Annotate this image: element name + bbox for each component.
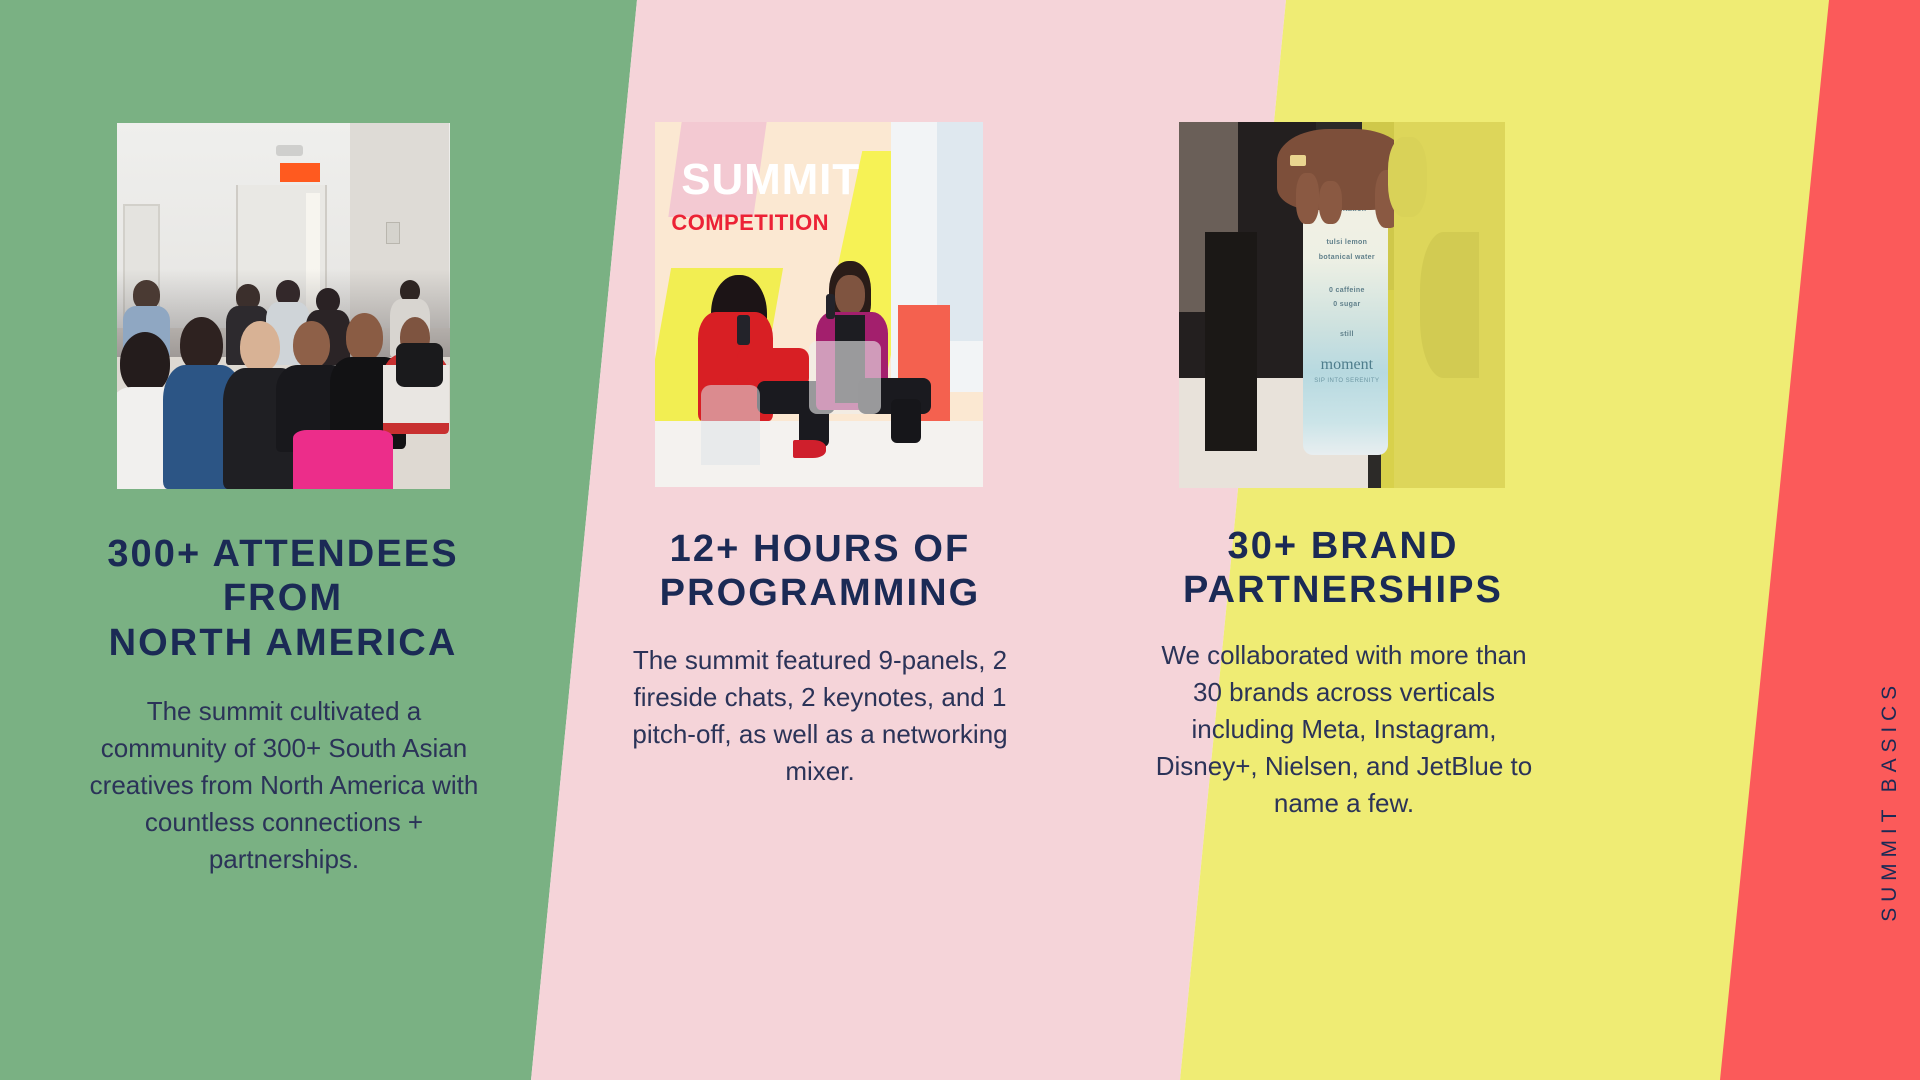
can-line-7: still xyxy=(1313,331,1381,338)
can-line-3: tulsi lemon xyxy=(1313,239,1381,246)
panel-attendees: 300+ ATTENDEES FROM NORTH AMERICA The su… xyxy=(0,0,560,1080)
fireside-chat-photo: SUMMIT COMPETITION xyxy=(655,122,983,487)
section-label-summit-basics: SUMMIT BASICS xyxy=(1878,680,1902,922)
can-brand-name: moment xyxy=(1309,356,1384,374)
slide-root: 300+ ATTENDEES FROM NORTH AMERICA The su… xyxy=(0,0,1920,1080)
panel-body-text: We collaborated with more than 30 brands… xyxy=(1144,637,1544,822)
can-line-5: 0 caffeine xyxy=(1313,287,1381,294)
can-brand-tagline: SIP INTO SERENITY xyxy=(1309,378,1384,384)
beverage-can-photo: drink your meditation tulsi lemon botani… xyxy=(1179,122,1505,488)
panel-programming: SUMMIT COMPETITION 12+ HOURS OF PROGRAMM… xyxy=(560,0,1070,1080)
exit-sign-icon xyxy=(280,163,320,181)
beverage-can xyxy=(1303,181,1388,456)
backdrop-competition-text: COMPETITION xyxy=(671,210,966,236)
panel-headline: 12+ HOURS OF PROGRAMMING xyxy=(610,527,1030,616)
can-line-6: 0 sugar xyxy=(1313,301,1381,308)
panel-body-text: The summit cultivated a community of 300… xyxy=(87,693,482,878)
can-line-4: botanical water xyxy=(1313,254,1381,261)
panel-headline: 30+ BRAND PARTNERSHIPS xyxy=(1123,524,1563,613)
panel-partnerships: drink your meditation tulsi lemon botani… xyxy=(1070,0,1600,1080)
audience-seated-photo xyxy=(117,123,450,489)
lightning-bolt-icon xyxy=(1848,14,1886,76)
panel-body-text: The summit featured 9-panels, 2 fireside… xyxy=(620,642,1020,790)
backdrop-summit-text: SUMMIT xyxy=(681,155,957,205)
ring xyxy=(1290,155,1306,166)
panel-headline: 300+ ATTENDEES FROM NORTH AMERICA xyxy=(48,532,518,665)
